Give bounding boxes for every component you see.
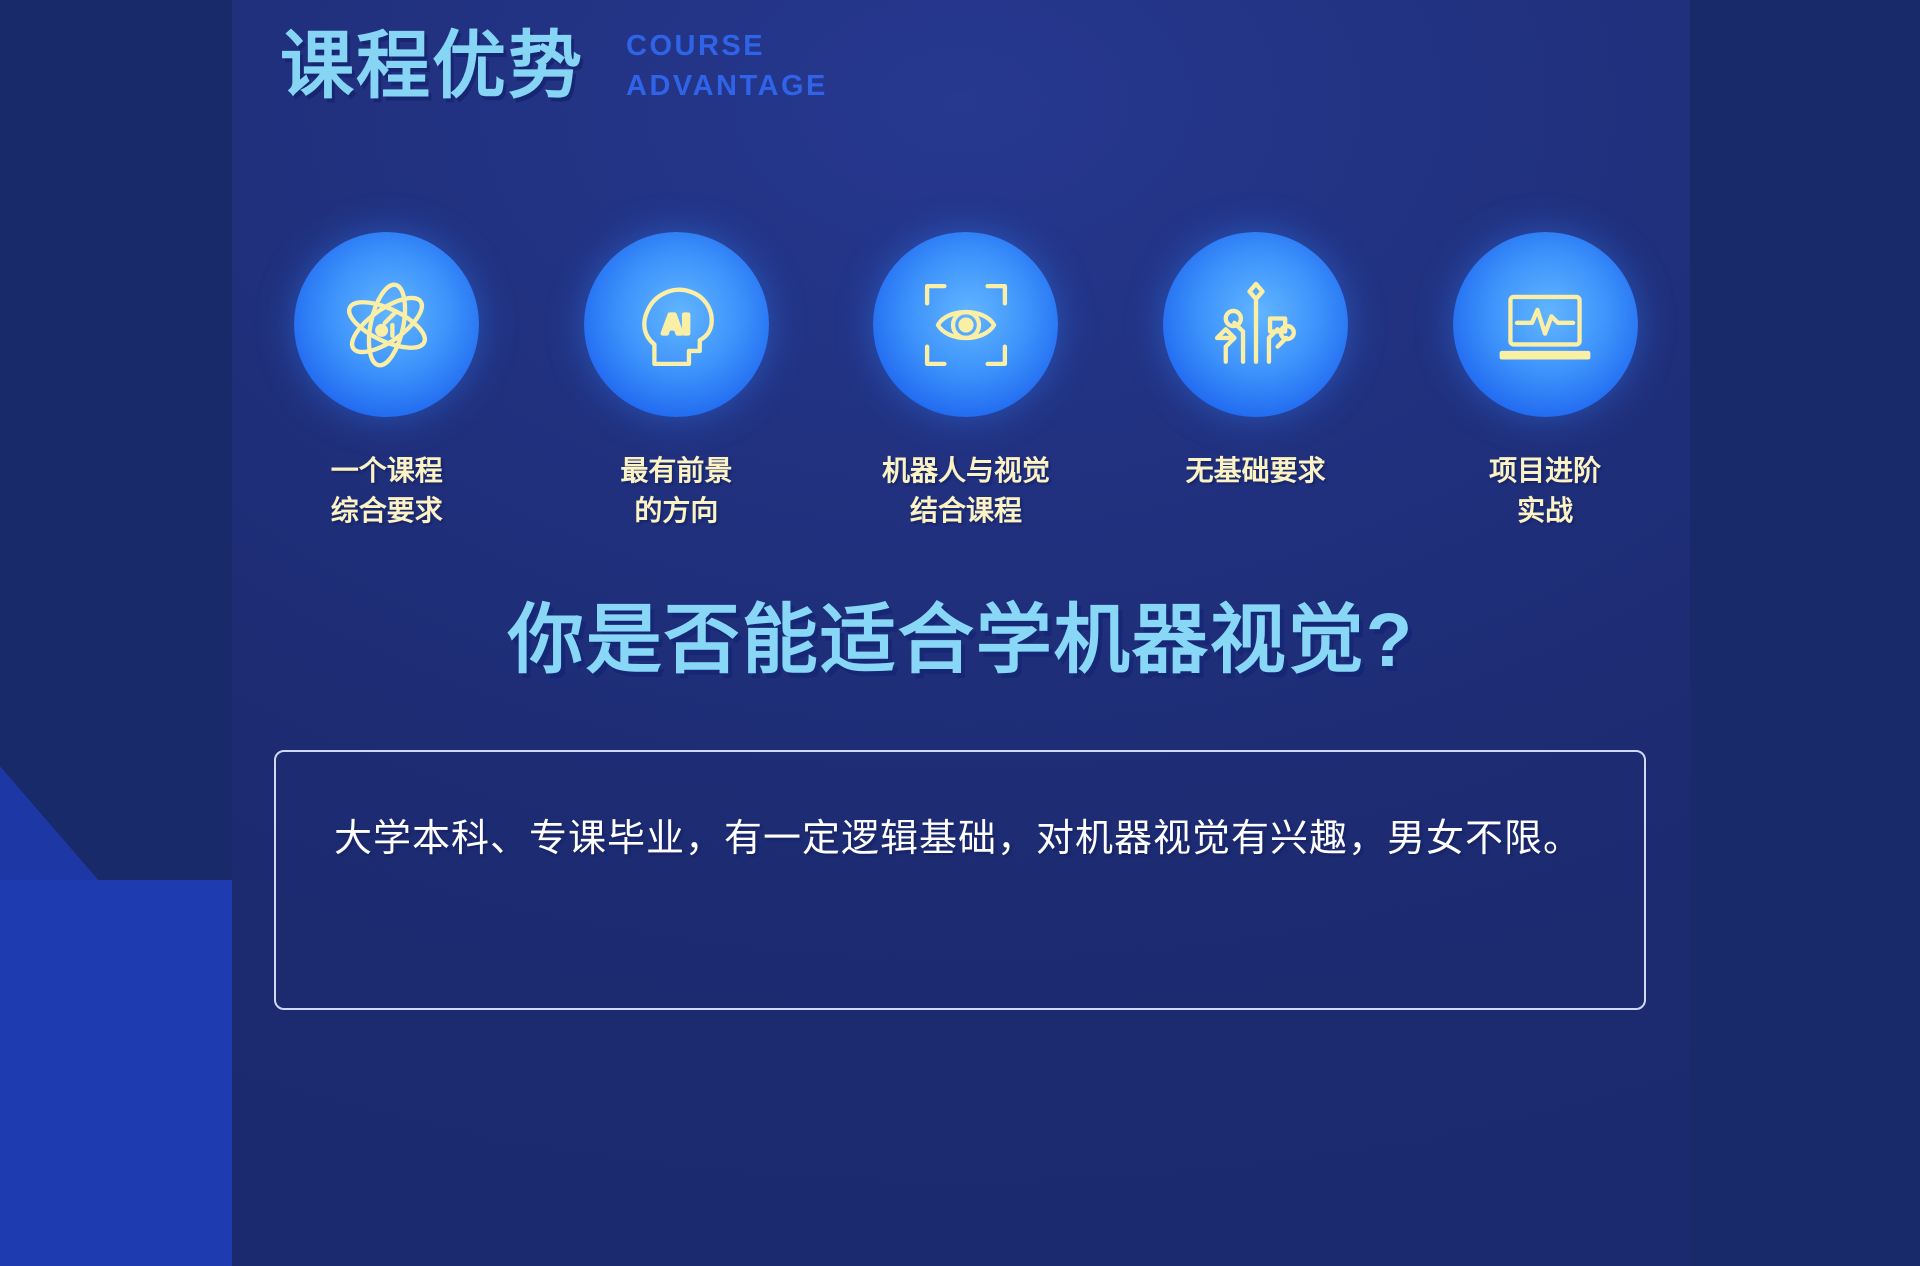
feature-label-3: 机器人与视觉 结合课程 bbox=[882, 451, 1050, 531]
feature-icon-bubble-4 bbox=[1163, 232, 1348, 417]
feature-item-3[interactable]: 机器人与视觉 结合课程 bbox=[821, 232, 1111, 531]
feature-icon-bubble-5 bbox=[1453, 232, 1638, 417]
feature-item-1[interactable]: 一个课程 综合要求 bbox=[242, 232, 532, 531]
right-side-band bbox=[1690, 0, 1920, 1266]
eye-scan-icon bbox=[912, 271, 1020, 379]
feature-label-2: 最有前景 的方向 bbox=[620, 451, 732, 531]
feature-label-4: 无基础要求 bbox=[1186, 451, 1326, 491]
content-panel: 课程优势 COURSE ADVANTAGE 一个课程 综合要求 bbox=[232, 0, 1690, 1266]
feature-item-4[interactable]: 无基础要求 bbox=[1111, 232, 1401, 491]
feature-item-5[interactable]: 项目进阶 实战 bbox=[1400, 232, 1690, 531]
feature-icon-bubble-3 bbox=[873, 232, 1058, 417]
feature-label-1: 一个课程 综合要求 bbox=[331, 451, 443, 531]
statement-box: 大学本科、专课毕业，有一定逻辑基础，对机器视觉有兴趣，男女不限。 bbox=[274, 750, 1646, 1010]
statement-text: 大学本科、专课毕业，有一定逻辑基础，对机器视觉有兴趣，男女不限。 bbox=[334, 804, 1586, 875]
section-header: 课程优势 COURSE ADVANTAGE bbox=[280, 26, 828, 106]
circuit-icon bbox=[1202, 271, 1310, 379]
feature-list: 一个课程 综合要求 AI 最有前景 的方向 bbox=[232, 232, 1690, 531]
decorative-corner-block bbox=[0, 880, 235, 1266]
feature-icon-bubble-1 bbox=[294, 232, 479, 417]
laptop-pulse-icon bbox=[1491, 271, 1599, 379]
feature-label-5: 项目进阶 实战 bbox=[1489, 451, 1601, 531]
poster-page: 课程优势 COURSE ADVANTAGE 一个课程 综合要求 bbox=[0, 0, 1920, 1266]
ai-head-icon: AI bbox=[622, 271, 730, 379]
feature-item-2[interactable]: AI 最有前景 的方向 bbox=[532, 232, 822, 531]
feature-icon-bubble-2: AI bbox=[584, 232, 769, 417]
page-subtitle-english: COURSE ADVANTAGE bbox=[626, 26, 828, 106]
section-question-heading: 你是否能适合学机器视觉? bbox=[232, 578, 1690, 688]
svg-text:AI: AI bbox=[662, 308, 690, 339]
page-title: 课程优势 bbox=[280, 29, 584, 103]
atom-icon bbox=[333, 271, 441, 379]
